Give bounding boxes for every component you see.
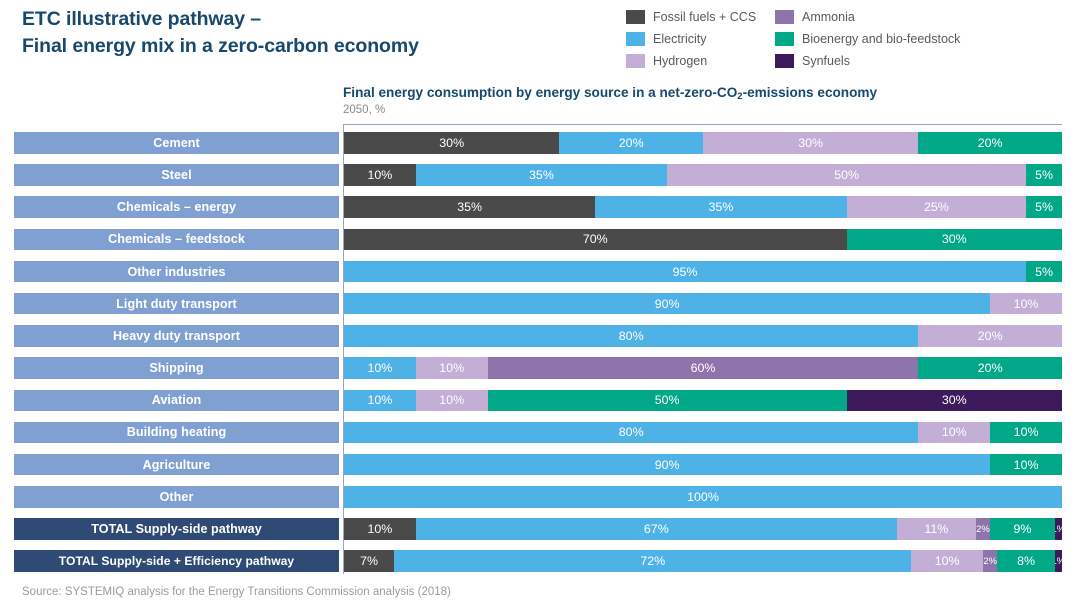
chart-row: Chemicals – energy35%35%25%5% — [0, 196, 1080, 228]
row-label-chemicals-energy[interactable]: Chemicals – energy — [14, 196, 339, 218]
subtitle-subscript: 2 — [737, 91, 742, 102]
legend-swatch-hydrogen — [626, 54, 645, 68]
chart-row: Light duty transport90%10% — [0, 293, 1080, 325]
row-bar: 10%67%11%2%9%1% — [344, 518, 1062, 540]
chart-row: Aviation10%10%50%30% — [0, 390, 1080, 422]
legend-item[interactable]: Hydrogen — [626, 50, 756, 72]
legend-item-label: Hydrogen — [653, 54, 707, 68]
row-bar: 7%72%10%2%8%1% — [344, 550, 1062, 572]
bar-segment[interactable]: 30% — [703, 132, 918, 154]
bar-segment[interactable]: 2% — [976, 518, 990, 540]
bar-segment[interactable]: 10% — [918, 422, 990, 444]
chart-units-label: 2050, % — [343, 104, 1063, 116]
bar-segment[interactable]: 10% — [344, 518, 416, 540]
legend-item[interactable]: Ammonia — [775, 6, 960, 28]
page-title: ETC illustrative pathway – Final energy … — [22, 6, 419, 60]
bar-segment[interactable]: 10% — [416, 357, 488, 379]
bar-segment[interactable]: 10% — [416, 390, 488, 412]
legend-swatch-synfuels — [775, 54, 794, 68]
bar-segment[interactable]: 100% — [344, 486, 1062, 508]
legend-item[interactable]: Fossil fuels + CCS — [626, 6, 756, 28]
bar-segment[interactable]: 50% — [667, 164, 1026, 186]
chart-row: Heavy duty transport80%20% — [0, 325, 1080, 357]
legend-item[interactable]: Bioenergy and bio-feedstock — [775, 28, 960, 50]
legend-item-label: Synfuels — [802, 54, 850, 68]
bar-segment[interactable]: 5% — [1026, 164, 1062, 186]
bar-segment[interactable]: 20% — [918, 325, 1062, 347]
bar-segment[interactable]: 70% — [344, 229, 847, 251]
row-bar: 70%30% — [344, 229, 1062, 251]
chart-row: TOTAL Supply-side + Efficiency pathway7%… — [0, 550, 1080, 582]
chart-row: Chemicals – feedstock70%30% — [0, 229, 1080, 261]
chart-row: Agriculture90%10% — [0, 454, 1080, 486]
chart-plot-area: Cement30%20%30%20%Steel10%35%50%5%Chemic… — [0, 132, 1080, 583]
chart-row: Shipping10%10%60%20% — [0, 357, 1080, 389]
bar-segment[interactable]: 10% — [344, 357, 416, 379]
chart-subtitle: Final energy consumption by energy sourc… — [343, 85, 1063, 102]
bar-segment[interactable]: 1% — [1055, 550, 1062, 572]
row-bar: 80%10%10% — [344, 422, 1062, 444]
legend-column-left: Fossil fuels + CCSElectricityHydrogen — [626, 6, 756, 72]
bar-segment[interactable]: 9% — [990, 518, 1055, 540]
row-label-heavy-duty-transport[interactable]: Heavy duty transport — [14, 325, 339, 347]
row-bar: 30%20%30%20% — [344, 132, 1062, 154]
subtitle-text-pre: Final energy consumption by energy sourc… — [343, 85, 737, 100]
bar-segment[interactable]: 10% — [911, 550, 983, 572]
bar-segment[interactable]: 30% — [847, 390, 1062, 412]
row-label-aviation[interactable]: Aviation — [14, 390, 339, 412]
row-bar: 80%20% — [344, 325, 1062, 347]
row-bar: 100% — [344, 486, 1062, 508]
legend-swatch-electricity — [626, 32, 645, 46]
chart-row: Steel10%35%50%5% — [0, 164, 1080, 196]
bar-segment[interactable]: 10% — [344, 390, 416, 412]
row-bar: 10%35%50%5% — [344, 164, 1062, 186]
chart-row: Other industries95%5% — [0, 261, 1080, 293]
legend-swatch-fossil — [626, 10, 645, 24]
bar-segment[interactable]: 30% — [847, 229, 1062, 251]
bar-segment[interactable]: 80% — [344, 422, 918, 444]
row-label-agriculture[interactable]: Agriculture — [14, 454, 339, 476]
bar-segment[interactable]: 5% — [1026, 196, 1062, 218]
row-label-building-heating[interactable]: Building heating — [14, 422, 339, 444]
row-bar: 90%10% — [344, 454, 1062, 476]
bar-segment[interactable]: 8% — [997, 550, 1054, 572]
source-note: Source: SYSTEMIQ analysis for the Energy… — [22, 586, 451, 598]
row-label-shipping[interactable]: Shipping — [14, 357, 339, 379]
row-label-chemicals-feedstock[interactable]: Chemicals – feedstock — [14, 229, 339, 251]
bar-segment[interactable]: 90% — [344, 293, 990, 315]
bar-segment[interactable]: 50% — [488, 390, 847, 412]
row-label-total-supply-side-efficiency-pathway[interactable]: TOTAL Supply-side + Efficiency pathway — [14, 550, 339, 572]
bar-segment[interactable]: 5% — [1026, 261, 1062, 283]
chart-row: Cement30%20%30%20% — [0, 132, 1080, 164]
row-label-other-industries[interactable]: Other industries — [14, 261, 339, 283]
bar-segment[interactable]: 72% — [394, 550, 911, 572]
bar-segment[interactable]: 90% — [344, 454, 990, 476]
bar-segment[interactable]: 10% — [344, 164, 416, 186]
legend-item-label: Electricity — [653, 32, 706, 46]
legend-item[interactable]: Electricity — [626, 28, 756, 50]
row-bar: 10%10%50%30% — [344, 390, 1062, 412]
bar-segment[interactable]: 60% — [488, 357, 919, 379]
bar-segment[interactable]: 35% — [595, 196, 846, 218]
legend-column-right: AmmoniaBioenergy and bio-feedstockSynfue… — [775, 6, 960, 72]
bar-segment[interactable]: 11% — [897, 518, 976, 540]
bar-segment[interactable]: 7% — [344, 550, 394, 572]
row-label-light-duty-transport[interactable]: Light duty transport — [14, 293, 339, 315]
chart-subtitle-block: Final energy consumption by energy sourc… — [343, 85, 1063, 116]
chart-row: TOTAL Supply-side pathway10%67%11%2%9%1% — [0, 518, 1080, 550]
bar-segment[interactable]: 20% — [918, 357, 1062, 379]
row-bar: 90%10% — [344, 293, 1062, 315]
legend-item-label: Bioenergy and bio-feedstock — [802, 32, 960, 46]
legend-item[interactable]: Synfuels — [775, 50, 960, 72]
bar-segment[interactable]: 2% — [983, 550, 997, 572]
bar-segment[interactable]: 10% — [990, 454, 1062, 476]
chart-row: Other100% — [0, 486, 1080, 518]
row-label-other[interactable]: Other — [14, 486, 339, 508]
row-label-total-supply-side-pathway[interactable]: TOTAL Supply-side pathway — [14, 518, 339, 540]
row-label-steel[interactable]: Steel — [14, 164, 339, 186]
bar-segment[interactable]: 80% — [344, 325, 918, 347]
legend-item-label: Ammonia — [802, 10, 855, 24]
row-label-cement[interactable]: Cement — [14, 132, 339, 154]
bar-segment[interactable]: 35% — [344, 196, 595, 218]
bar-segment[interactable]: 1% — [1055, 518, 1062, 540]
axis-top-rule — [343, 124, 1062, 125]
chart-row: Building heating80%10%10% — [0, 422, 1080, 454]
bar-segment[interactable]: 10% — [990, 293, 1062, 315]
bar-segment[interactable]: 20% — [559, 132, 703, 154]
bar-segment[interactable]: 95% — [344, 261, 1026, 283]
legend-swatch-ammonia — [775, 10, 794, 24]
bar-segment[interactable]: 30% — [344, 132, 559, 154]
legend-swatch-bioenergy — [775, 32, 794, 46]
row-bar: 95%5% — [344, 261, 1062, 283]
bar-segment[interactable]: 67% — [416, 518, 897, 540]
bar-segment[interactable]: 25% — [847, 196, 1027, 218]
subtitle-text-post: -emissions economy — [743, 85, 877, 100]
chart-header: ETC illustrative pathway – Final energy … — [0, 0, 1080, 80]
bar-segment[interactable]: 35% — [416, 164, 667, 186]
bar-segment[interactable]: 20% — [918, 132, 1062, 154]
row-bar: 35%35%25%5% — [344, 196, 1062, 218]
legend-item-label: Fossil fuels + CCS — [653, 10, 756, 24]
bar-segment[interactable]: 10% — [990, 422, 1062, 444]
row-bar: 10%10%60%20% — [344, 357, 1062, 379]
